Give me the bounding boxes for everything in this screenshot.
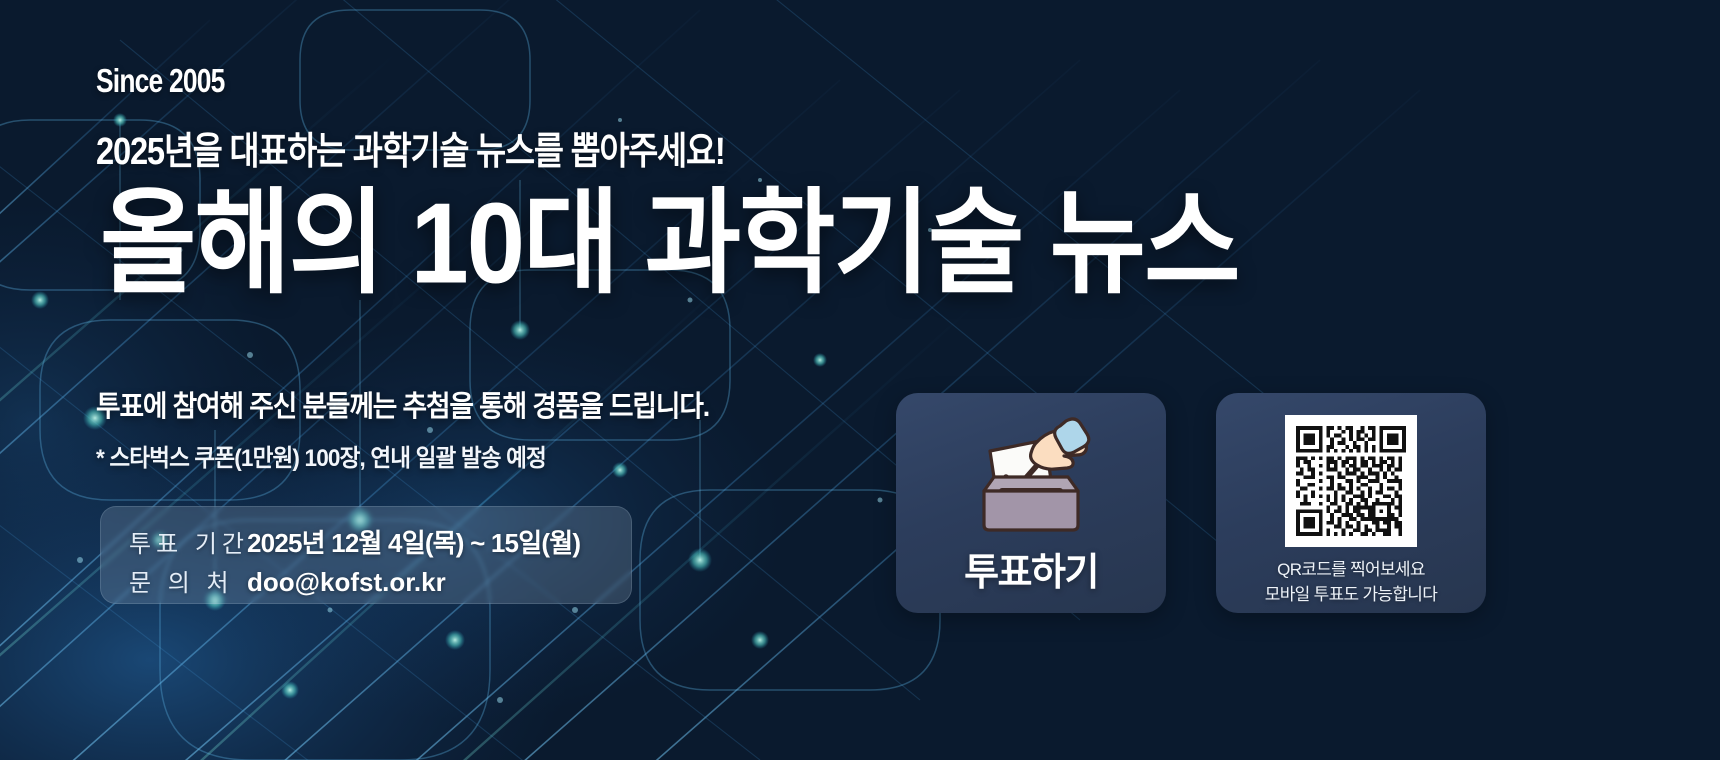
prize-note: * 스타벅스 쿠폰(1만원) 100장, 연내 일괄 발송 예정 <box>96 438 546 473</box>
qr-caption-line1: QR코드를 찍어보세요 <box>1216 558 1486 583</box>
contact-email[interactable]: doo@kofst.or.kr <box>247 567 446 598</box>
vote-button-card[interactable]: 투표하기 <box>896 393 1166 613</box>
qr-code-card[interactable]: QR코드를 찍어보세요 모바일 투표도 가능합니다 <box>1216 393 1486 613</box>
promo-banner: Since 2005 2025년을 대표하는 과학기술 뉴스를 뽑아주세요! 올… <box>0 0 1720 760</box>
vote-period-row: 투표 기간 2025년 12월 4일(목) ~ 15일(월) <box>129 523 580 560</box>
subheadline: 2025년을 대표하는 과학기술 뉴스를 뽑아주세요! <box>96 120 725 175</box>
qr-code-icon <box>1285 415 1417 547</box>
qr-caption: QR코드를 찍어보세요 모바일 투표도 가능합니다 <box>1216 558 1486 607</box>
ballot-box-icon <box>956 415 1106 535</box>
page-title: 올해의 10대 과학기술 뉴스 <box>100 186 1239 300</box>
vote-period-label: 투표 기간 <box>129 524 247 559</box>
contact-row: 문 의 처 doo@kofst.or.kr <box>129 563 446 598</box>
qr-caption-line2: 모바일 투표도 가능합니다 <box>1216 583 1486 608</box>
prize-description: 투표에 참여해 주신 분들께는 추첨을 통해 경품을 드립니다. <box>96 383 709 425</box>
headline-column: Since 2005 2025년을 대표하는 과학기술 뉴스를 뽑아주세요! 올… <box>96 0 1096 760</box>
eyebrow-since-2005: Since 2005 <box>96 62 225 100</box>
vote-period-value: 2025년 12월 4일(목) ~ 15일(월) <box>247 523 580 560</box>
vote-info-box: 투표 기간 2025년 12월 4일(목) ~ 15일(월) 문 의 처 doo… <box>100 506 632 604</box>
contact-label: 문 의 처 <box>129 563 247 598</box>
vote-button-label: 투표하기 <box>896 541 1166 596</box>
